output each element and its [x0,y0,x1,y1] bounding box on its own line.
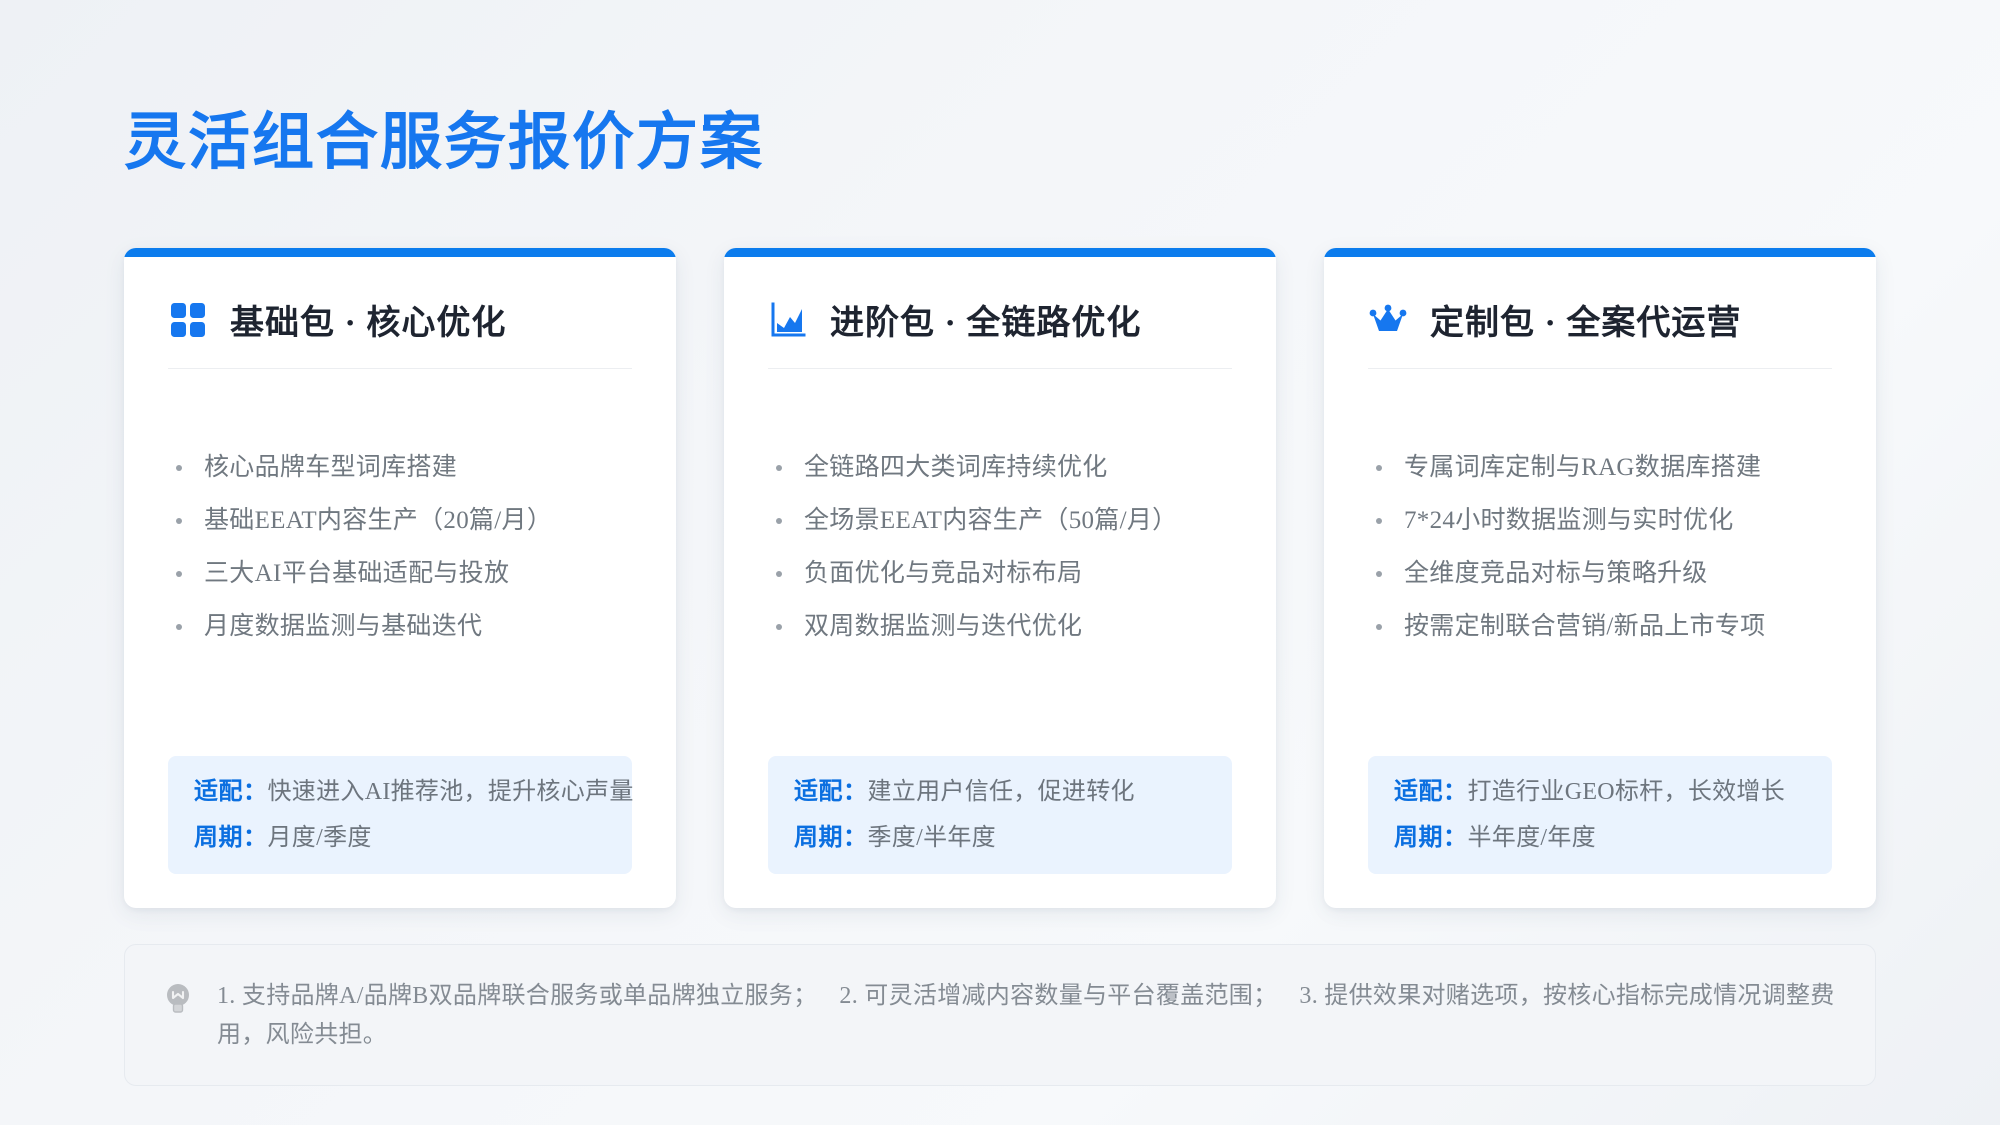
footnote-item-1: 1. 支持品牌A/品牌B双品牌联合服务或单品牌独立服务； [217,983,817,1009]
grid-icon [168,300,208,340]
card-title: 定制包 · 全案代运营 [1430,295,1741,344]
fit-value: 打造行业GEO标杆，长效增长 [1468,780,1786,804]
feature-item: 按需定制联合营销/新品上市专项 [1368,614,1832,639]
feature-list: 全链路四大类词库持续优化 全场景EEAT内容生产（50篇/月） 负面优化与竞品对… [768,455,1232,667]
card-body: 基础包 · 核心优化 核心品牌车型词库搭建 基础EEAT内容生产（20篇/月） … [124,257,676,908]
feature-list: 核心品牌车型词库搭建 基础EEAT内容生产（20篇/月） 三大AI平台基础适配与… [168,455,632,667]
footnote-text: 1. 支持品牌A/品牌B双品牌联合服务或单品牌独立服务；2. 可灵活增减内容数量… [217,977,1835,1055]
feature-item: 全维度竞品对标与策略升级 [1368,561,1832,586]
feature-item: 专属词库定制与RAG数据库搭建 [1368,455,1832,480]
feature-item: 7*24小时数据监测与实时优化 [1368,508,1832,533]
feature-item: 基础EEAT内容生产（20篇/月） [168,508,632,533]
lightbulb-icon [161,981,195,1015]
cycle-row: 周期： 月度/季度 [194,826,606,850]
footnote-bar: 1. 支持品牌A/品牌B双品牌联合服务或单品牌独立服务；2. 可灵活增减内容数量… [124,944,1876,1086]
card-accent-bar [724,248,1276,257]
footnote-item-2: 2. 可灵活增减内容数量与平台覆盖范围； [839,983,1277,1009]
page-title: 灵活组合服务报价方案 [124,108,764,179]
card-body: 定制包 · 全案代运营 专属词库定制与RAG数据库搭建 7*24小时数据监测与实… [1324,257,1876,908]
cycle-value: 半年度/年度 [1468,826,1596,850]
cycle-label: 周期： [794,826,868,850]
card-header: 进阶包 · 全链路优化 [768,295,1232,369]
cycle-label: 周期： [194,826,268,850]
cycle-value: 月度/季度 [268,826,372,850]
card-header: 基础包 · 核心优化 [168,295,632,369]
pricing-card-row: 基础包 · 核心优化 核心品牌车型词库搭建 基础EEAT内容生产（20篇/月） … [124,248,1876,908]
feature-item: 月度数据监测与基础迭代 [168,614,632,639]
feature-item: 双周数据监测与迭代优化 [768,614,1232,639]
card-summary-box: 适配： 建立用户信任，促进转化 周期： 季度/半年度 [768,756,1232,874]
crown-icon [1368,300,1408,340]
cycle-row: 周期： 半年度/年度 [1394,826,1806,850]
feature-item: 负面优化与竞品对标布局 [768,561,1232,586]
feature-list: 专属词库定制与RAG数据库搭建 7*24小时数据监测与实时优化 全维度竞品对标与… [1368,455,1832,667]
pricing-card-basic[interactable]: 基础包 · 核心优化 核心品牌车型词库搭建 基础EEAT内容生产（20篇/月） … [124,248,676,908]
cycle-value: 季度/半年度 [868,826,996,850]
cycle-row: 周期： 季度/半年度 [794,826,1206,850]
card-header: 定制包 · 全案代运营 [1368,295,1832,369]
chart-icon [768,300,808,340]
pricing-card-custom[interactable]: 定制包 · 全案代运营 专属词库定制与RAG数据库搭建 7*24小时数据监测与实… [1324,248,1876,908]
fit-row: 适配： 建立用户信任，促进转化 [794,780,1206,804]
pricing-card-advanced[interactable]: 进阶包 · 全链路优化 全链路四大类词库持续优化 全场景EEAT内容生产（50篇… [724,248,1276,908]
feature-item: 三大AI平台基础适配与投放 [168,561,632,586]
card-accent-bar [124,248,676,257]
card-accent-bar [1324,248,1876,257]
fit-label: 适配： [194,780,268,804]
slide-root: 灵活组合服务报价方案 基础包 · 核心优化 [0,0,2000,1125]
card-title: 进阶包 · 全链路优化 [830,295,1141,344]
cycle-label: 周期： [1394,826,1468,850]
card-title: 基础包 · 核心优化 [230,295,506,344]
feature-item: 核心品牌车型词库搭建 [168,455,632,480]
feature-item: 全链路四大类词库持续优化 [768,455,1232,480]
fit-label: 适配： [1394,780,1468,804]
card-summary-box: 适配： 打造行业GEO标杆，长效增长 周期： 半年度/年度 [1368,756,1832,874]
feature-item: 全场景EEAT内容生产（50篇/月） [768,508,1232,533]
fit-row: 适配： 快速进入AI推荐池，提升核心声量 [194,780,606,804]
card-summary-box: 适配： 快速进入AI推荐池，提升核心声量 周期： 月度/季度 [168,756,632,874]
fit-label: 适配： [794,780,868,804]
fit-value: 建立用户信任，促进转化 [868,780,1135,804]
card-body: 进阶包 · 全链路优化 全链路四大类词库持续优化 全场景EEAT内容生产（50篇… [724,257,1276,908]
fit-value: 快速进入AI推荐池，提升核心声量 [268,780,634,804]
fit-row: 适配： 打造行业GEO标杆，长效增长 [1394,780,1806,804]
